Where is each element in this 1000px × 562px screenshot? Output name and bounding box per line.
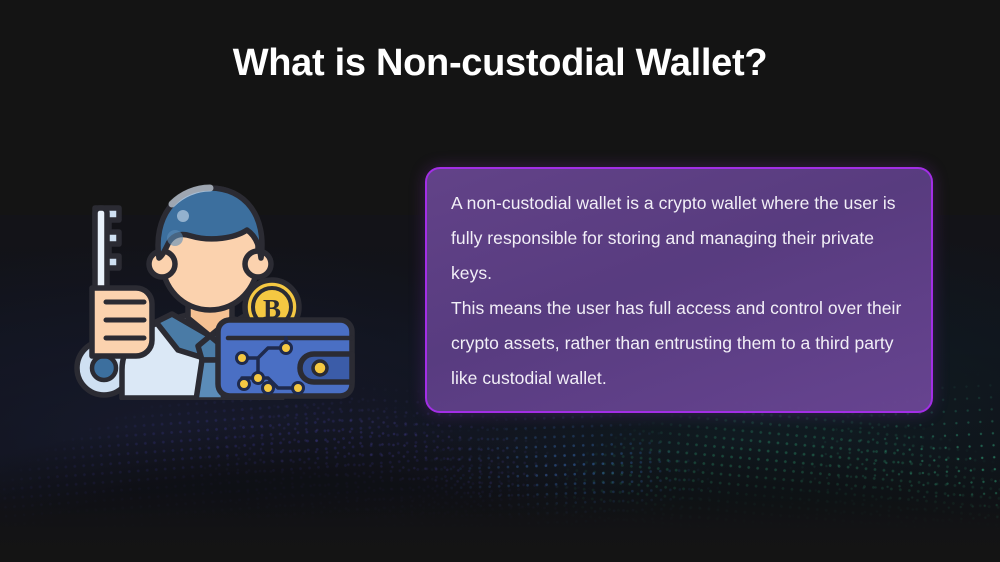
hero-illustration: B — [62, 172, 362, 400]
slide-canvas: What is Non-custodial Wallet? — [0, 0, 1000, 562]
description-paragraph-2: This means the user has full access and … — [451, 291, 907, 396]
description-card: A non-custodial wallet is a crypto walle… — [425, 167, 933, 413]
page-title: What is Non-custodial Wallet? — [0, 42, 1000, 85]
background-bottom-fade — [0, 492, 1000, 562]
hand — [92, 288, 152, 356]
description-paragraph-1: A non-custodial wallet is a crypto walle… — [451, 186, 907, 291]
